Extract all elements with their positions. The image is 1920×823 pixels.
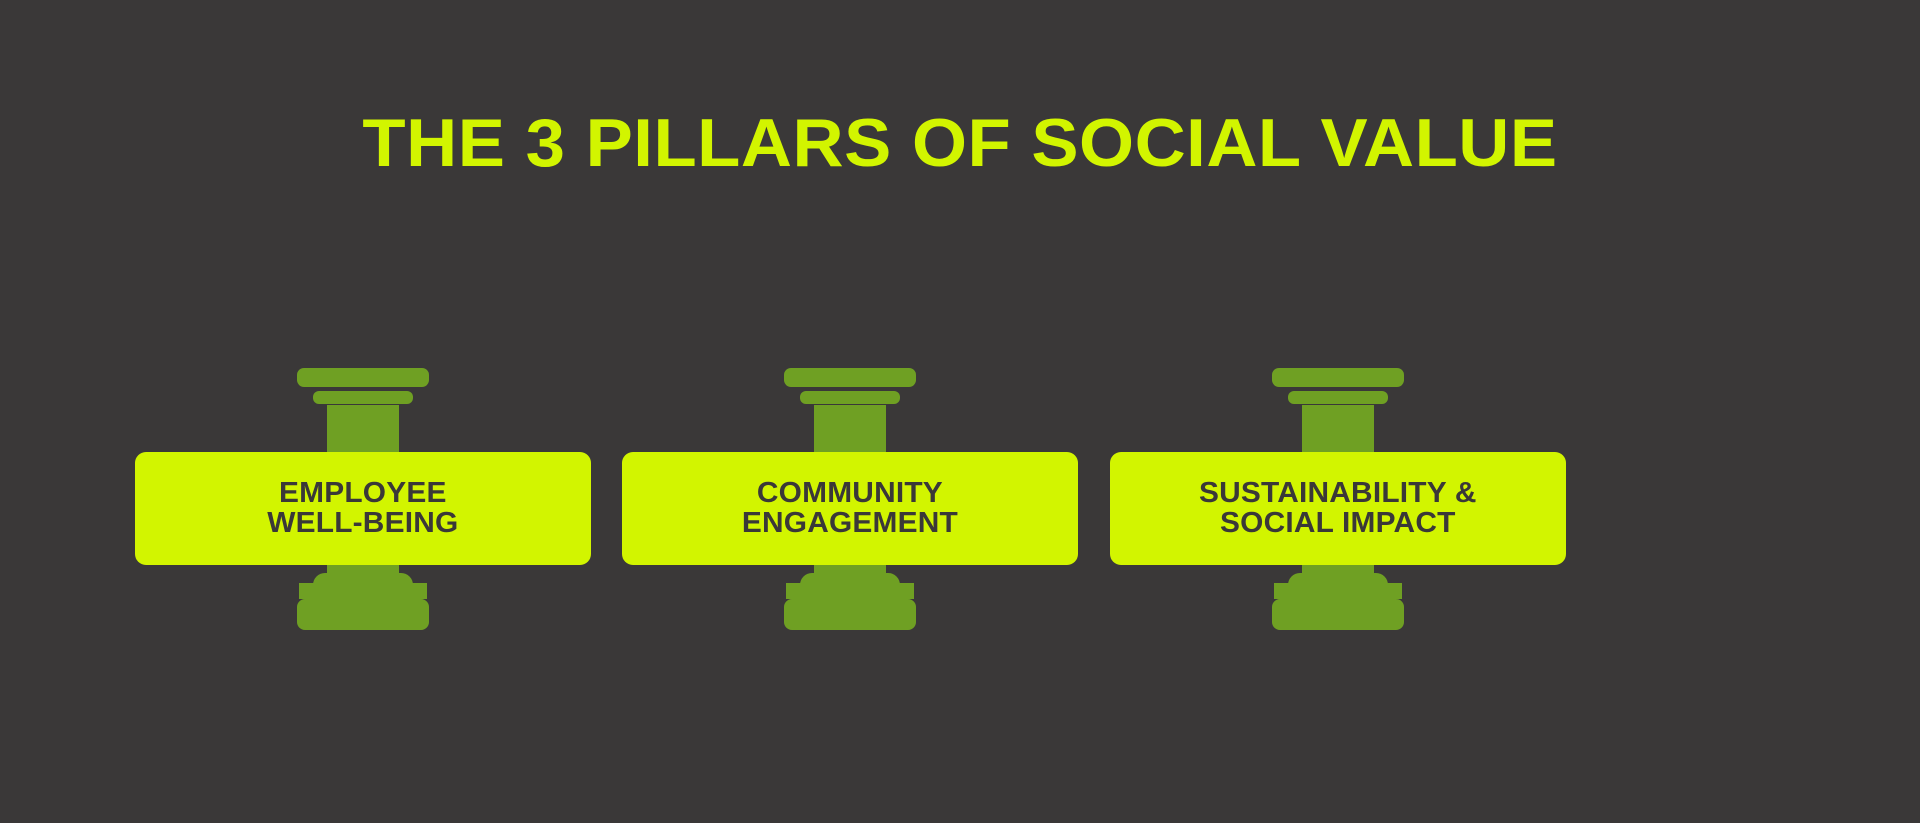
pillar-cap-mid bbox=[800, 391, 900, 404]
pillar-label-banner[interactable]: SUSTAINABILITY & SOCIAL IMPACT bbox=[1110, 452, 1566, 565]
pillar-label-text: COMMUNITY ENGAGEMENT bbox=[742, 479, 958, 538]
pillar-cap-top bbox=[1272, 368, 1404, 387]
pillar-label-banner[interactable]: EMPLOYEE WELL-BEING bbox=[135, 452, 591, 565]
pillar-label-text: SUSTAINABILITY & SOCIAL IMPACT bbox=[1199, 479, 1477, 538]
pillar-cap-top bbox=[784, 368, 916, 387]
pillar-cap-mid bbox=[1288, 391, 1388, 404]
pillar-employee-well-being: EMPLOYEE WELL-BEING bbox=[133, 368, 593, 658]
pillar-label-text: EMPLOYEE WELL-BEING bbox=[267, 479, 458, 538]
pillar-cap-mid bbox=[313, 391, 413, 404]
pillar-base-step bbox=[800, 573, 900, 599]
pillar-community-engagement: COMMUNITY ENGAGEMENT bbox=[620, 368, 1080, 658]
page-title: THE 3 PILLARS OF SOCIAL VALUE bbox=[0, 108, 1920, 179]
pillar-cap-top bbox=[297, 368, 429, 387]
pillar-base-bottom bbox=[784, 599, 916, 630]
pillar-base-bottom bbox=[1272, 599, 1404, 630]
pillar-base-bottom bbox=[297, 599, 429, 630]
pillar-label-banner[interactable]: COMMUNITY ENGAGEMENT bbox=[622, 452, 1078, 565]
pillar-sustainability-social-impact: SUSTAINABILITY & SOCIAL IMPACT bbox=[1108, 368, 1568, 658]
pillar-base-step bbox=[1288, 573, 1388, 599]
infographic-canvas: THE 3 PILLARS OF SOCIAL VALUE EMPLOYEE W… bbox=[0, 0, 1920, 823]
pillar-base-step bbox=[313, 573, 413, 599]
